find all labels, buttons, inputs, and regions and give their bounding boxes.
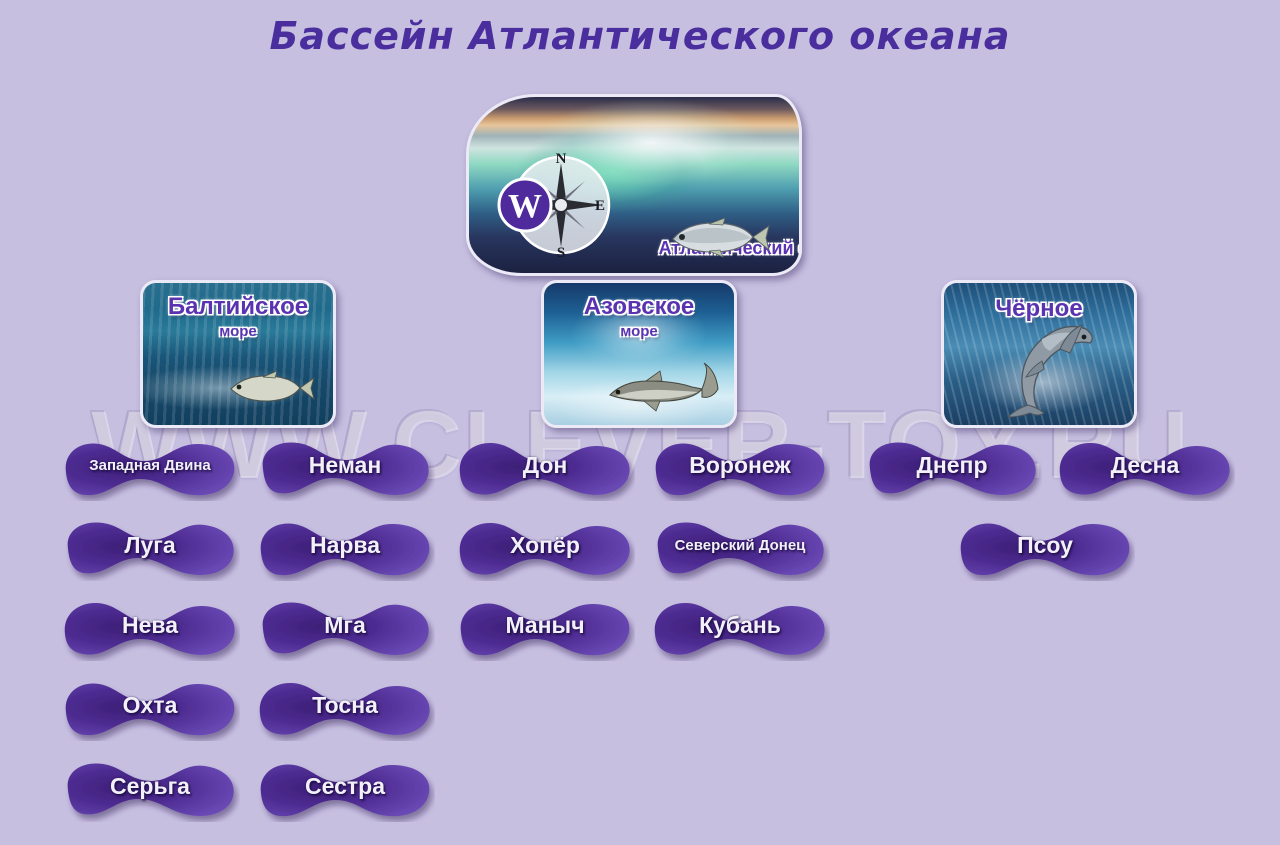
river-name-label: Нева [122,612,178,639]
river-blob[interactable]: Западная Двина [60,437,240,501]
river-name-label: Дон [523,452,568,479]
river-name-label: Хопёр [510,532,580,559]
river-blob[interactable]: Воронеж [650,437,830,501]
river-blob[interactable]: Охта [60,677,240,741]
river-blob[interactable]: Неман [255,437,435,501]
river-blob[interactable]: Маныч [455,597,635,661]
river-blob[interactable]: Мга [255,597,435,661]
river-blob[interactable]: Хопёр [455,517,635,581]
river-name-label: Нарва [310,532,380,559]
river-blob[interactable]: Северский Донец [650,517,830,581]
river-name-label: Луга [124,532,175,559]
river-blob[interactable]: Дон [455,437,635,501]
river-blob[interactable]: Десна [1055,437,1235,501]
river-name-label: Мга [324,612,366,639]
river-blob[interactable]: Тосна [255,677,435,741]
river-blob[interactable]: Кубань [650,597,830,661]
river-blob[interactable]: Днепр [862,437,1042,501]
river-blob-grid: Западная ДвинаНеманДонВоронежДнепрДеснаЛ… [0,0,1280,845]
river-name-label: Десна [1111,452,1180,479]
river-name-label: Северский Донец [675,537,806,554]
river-name-label: Сестра [305,773,385,800]
river-name-label: Серьга [110,773,190,800]
river-name-label: Псоу [1017,532,1073,559]
river-name-label: Неман [309,452,382,479]
river-name-label: Тосна [312,692,378,719]
river-name-label: Днепр [916,452,987,479]
river-blob[interactable]: Луга [60,517,240,581]
river-blob[interactable]: Сестра [255,758,435,822]
river-blob[interactable]: Нарва [255,517,435,581]
river-name-label: Маныч [505,612,584,639]
river-name-label: Охта [123,692,178,719]
river-name-label: Кубань [699,612,781,639]
river-blob[interactable]: Нева [60,597,240,661]
river-blob[interactable]: Псоу [955,517,1135,581]
river-name-label: Воронеж [689,452,790,479]
river-blob[interactable]: Серьга [60,758,240,822]
river-name-label: Западная Двина [89,457,211,474]
